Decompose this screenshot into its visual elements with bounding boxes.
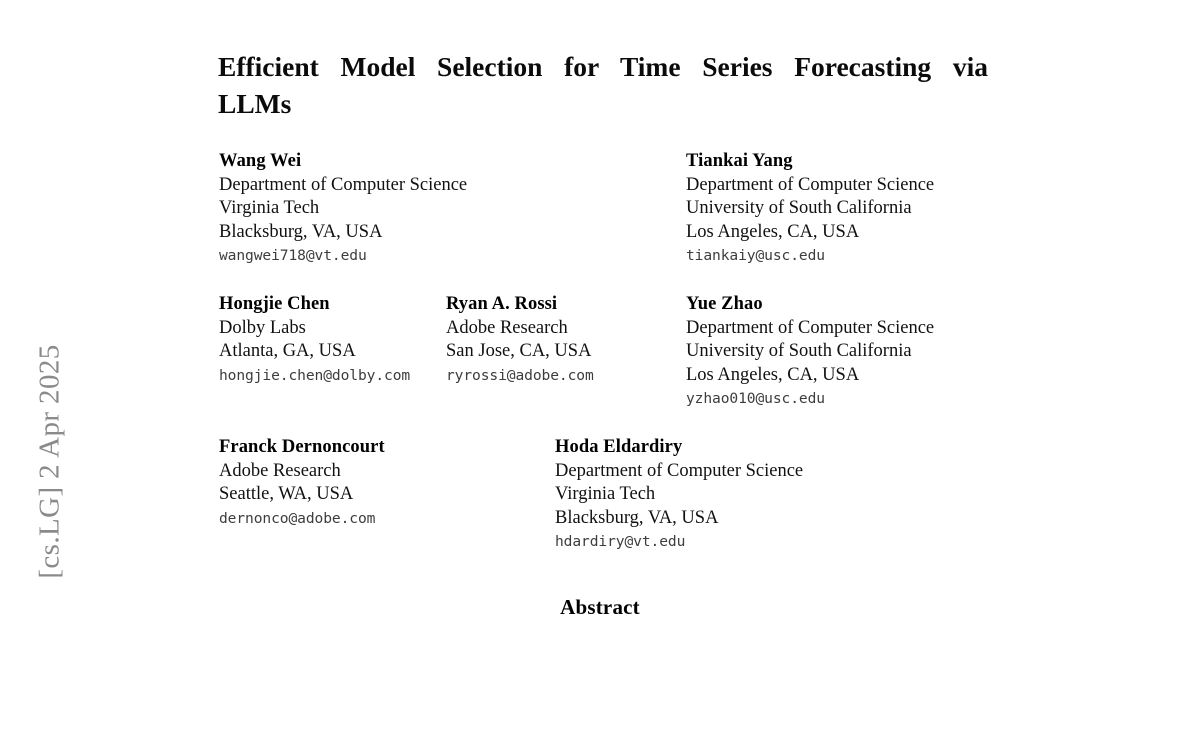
author-affiliation-1: Department of Computer Science — [555, 460, 803, 484]
author-name: Hoda Eldardiry — [555, 436, 803, 460]
arxiv-stamp-text: [cs.LG] 2 Apr 2025 — [34, 182, 67, 742]
author-location: Los Angeles, CA, USA — [686, 221, 934, 245]
author-affiliation-2: University of South California — [686, 197, 934, 221]
author-email[interactable]: hdardiry@vt.edu — [555, 530, 803, 554]
author-block-wang-wei: Wang Wei Department of Computer Science … — [219, 150, 467, 268]
author-block-hongjie-chen: Hongjie Chen Dolby Labs Atlanta, GA, USA… — [219, 293, 410, 387]
abstract-heading: Abstract — [0, 595, 1200, 620]
author-name: Hongjie Chen — [219, 293, 410, 317]
author-block-ryan-a-rossi: Ryan A. Rossi Adobe Research San Jose, C… — [446, 293, 594, 387]
author-email[interactable]: wangwei718@vt.edu — [219, 244, 467, 268]
author-affiliation-2: University of South California — [686, 340, 934, 364]
author-location: Los Angeles, CA, USA — [686, 364, 934, 388]
author-location: Blacksburg, VA, USA — [219, 221, 467, 245]
author-email[interactable]: hongjie.chen@dolby.com — [219, 364, 410, 388]
author-name: Franck Dernoncourt — [219, 436, 385, 460]
author-affiliation-1: Department of Computer Science — [686, 174, 934, 198]
page-title-line-1: Efficient Model Selection for Time Serie… — [218, 48, 988, 85]
author-affiliation-1: Dolby Labs — [219, 317, 410, 341]
author-email[interactable]: ryrossi@adobe.com — [446, 364, 594, 388]
author-name: Tiankai Yang — [686, 150, 934, 174]
author-affiliation-2: Virginia Tech — [555, 483, 803, 507]
author-affiliation-1: Department of Computer Science — [686, 317, 934, 341]
author-email[interactable]: tiankaiy@usc.edu — [686, 244, 934, 268]
author-affiliation-2: Virginia Tech — [219, 197, 467, 221]
author-affiliation-1: Adobe Research — [219, 460, 385, 484]
author-block-franck-dernoncourt: Franck Dernoncourt Adobe Research Seattl… — [219, 436, 385, 530]
page-title: Efficient Model Selection for Time Serie… — [218, 48, 988, 122]
author-location: San Jose, CA, USA — [446, 340, 594, 364]
author-affiliation-1: Adobe Research — [446, 317, 594, 341]
author-name: Wang Wei — [219, 150, 467, 174]
author-name: Ryan A. Rossi — [446, 293, 594, 317]
author-email[interactable]: dernonco@adobe.com — [219, 507, 385, 531]
author-email[interactable]: yzhao010@usc.edu — [686, 387, 934, 411]
author-block-tiankai-yang: Tiankai Yang Department of Computer Scie… — [686, 150, 934, 268]
author-location: Seattle, WA, USA — [219, 483, 385, 507]
author-affiliation-1: Department of Computer Science — [219, 174, 467, 198]
author-location: Atlanta, GA, USA — [219, 340, 410, 364]
arxiv-stamp: [cs.LG] 2 Apr 2025 — [0, 0, 84, 648]
page-title-line-2: LLMs — [218, 85, 988, 122]
author-block-hoda-eldardiry: Hoda Eldardiry Department of Computer Sc… — [555, 436, 803, 554]
author-block-yue-zhao: Yue Zhao Department of Computer Science … — [686, 293, 934, 411]
paper-page: [cs.LG] 2 Apr 2025 Efficient Model Selec… — [0, 0, 1200, 648]
author-name: Yue Zhao — [686, 293, 934, 317]
author-location: Blacksburg, VA, USA — [555, 507, 803, 531]
